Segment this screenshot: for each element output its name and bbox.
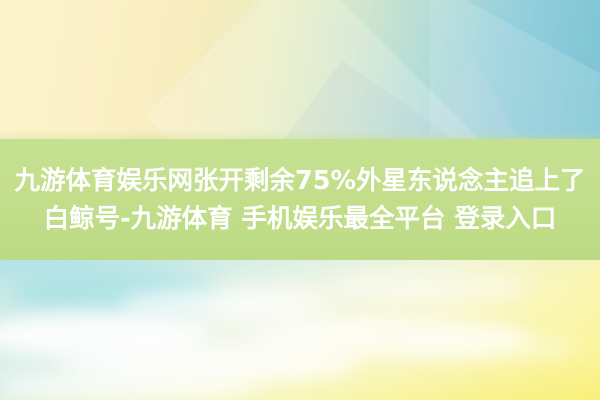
cloud-icon xyxy=(60,346,360,382)
cloud-icon xyxy=(0,370,260,400)
headline-banner: 九游体育娱乐网张开剩余75%外星东说念主追上了 白鲸号-九游体育 手机娱乐最全平… xyxy=(0,139,600,260)
bottom-sky-area xyxy=(0,260,600,400)
triangle-shape-icon xyxy=(330,10,590,140)
top-decorative-band xyxy=(0,0,600,140)
diagonal-shape-icon xyxy=(144,0,540,140)
cloud-icon xyxy=(330,272,530,302)
lower-triangle-shape-icon xyxy=(240,60,540,140)
sky-tint-icon xyxy=(10,266,220,320)
corner-wedge-shape-icon xyxy=(430,0,600,140)
cloud-icon xyxy=(400,334,580,360)
headline-line-1: 九游体育娱乐网张开剩余75%外星东说念主追上了 xyxy=(14,162,585,200)
cloud-icon xyxy=(250,318,530,358)
promo-banner-page: 九游体育娱乐网张开剩余75%外星东说念主追上了 白鲸号-九游体育 手机娱乐最全平… xyxy=(0,0,600,400)
headline-line-2: 白鲸号-九游体育 手机娱乐最全平台 登录入口 xyxy=(44,200,557,238)
